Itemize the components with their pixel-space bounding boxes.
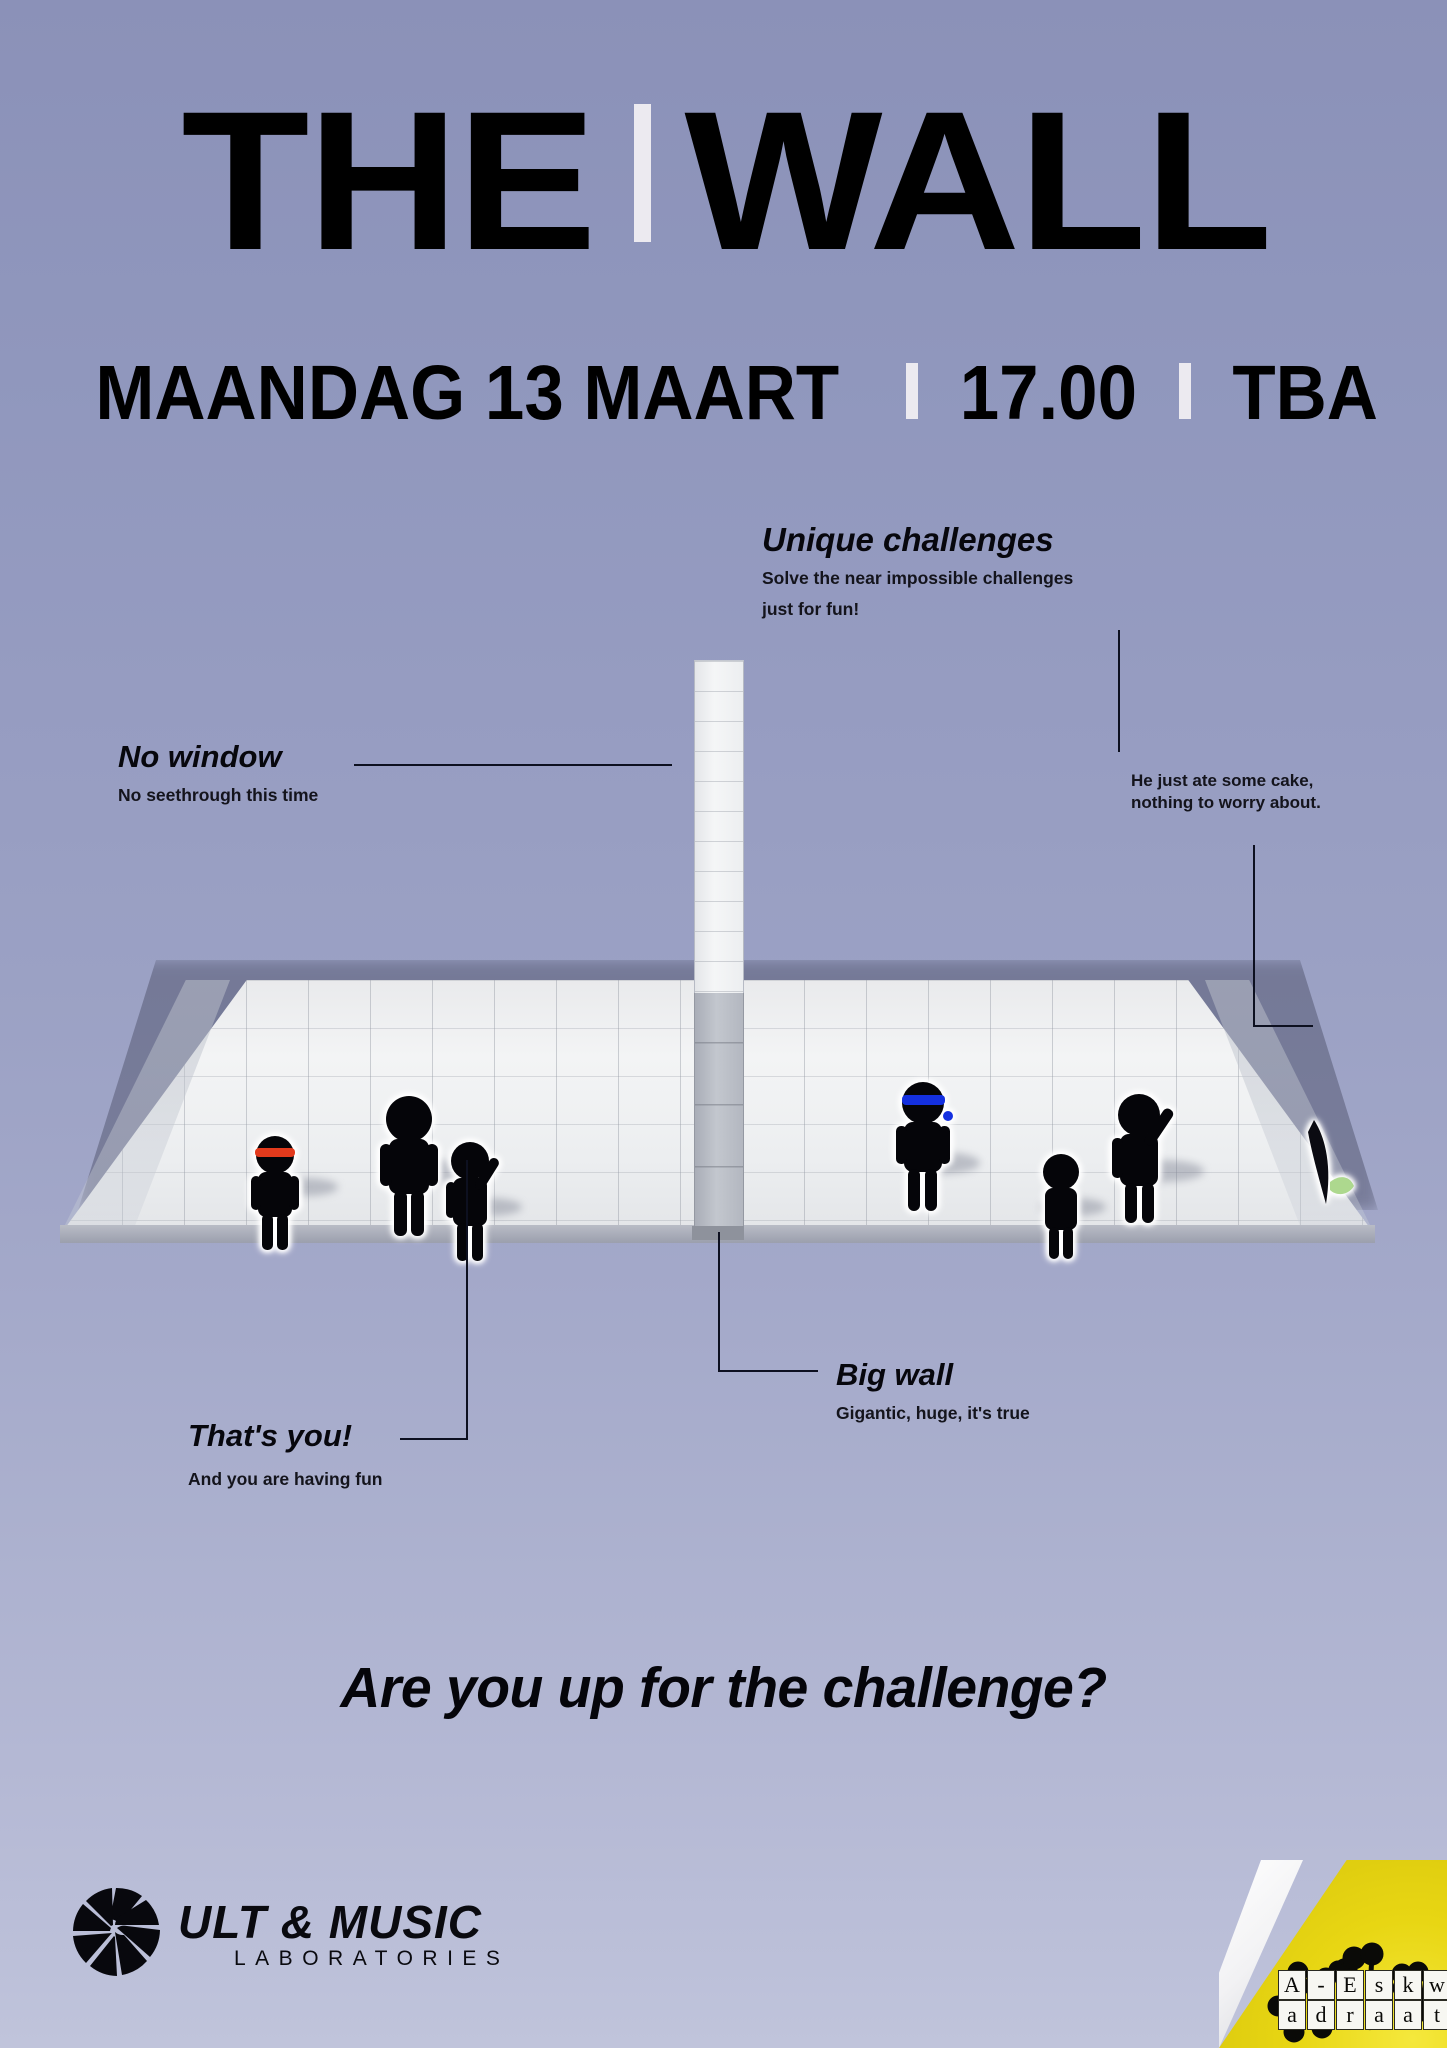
callout-thats-you: That's you! And you are having fun bbox=[188, 1418, 382, 1490]
event-details: MAANDAG 13 MAART 17.00 TBA bbox=[0, 355, 1447, 432]
title-word-wall: WALL bbox=[684, 82, 1270, 280]
subtitle-separator-1 bbox=[906, 363, 918, 419]
callout-title: No window bbox=[118, 739, 318, 775]
callout-no-window: No window No seethrough this time bbox=[118, 739, 318, 806]
figure-3 bbox=[444, 1140, 506, 1266]
title-word-the: THE bbox=[181, 82, 594, 280]
badge-cell: w bbox=[1423, 1970, 1447, 2000]
badge-cell: a bbox=[1278, 2000, 1306, 2030]
figure-1 bbox=[247, 1134, 303, 1254]
callout-big-wall: Big wall Gigantic, huge, it's true bbox=[836, 1357, 1030, 1424]
figure-6 bbox=[1110, 1092, 1180, 1226]
page-title: THE WALL bbox=[0, 82, 1447, 280]
badge-cell: d bbox=[1307, 2000, 1335, 2030]
leader-line-big-wall-end bbox=[718, 1370, 818, 1372]
event-date: MAANDAG 13 MAART bbox=[95, 355, 839, 432]
badge-cell: t bbox=[1423, 2000, 1447, 2030]
subtitle-separator-2 bbox=[1179, 363, 1191, 419]
leader-line-cake-end bbox=[1253, 1025, 1313, 1027]
leader-line-cake bbox=[1253, 845, 1255, 1025]
wall-upper-tiles bbox=[694, 660, 744, 993]
event-time: 17.00 bbox=[960, 355, 1137, 432]
leader-line-unique-challenges bbox=[1118, 630, 1120, 752]
poster-canvas: THE WALL MAANDAG 13 MAART 17.00 TBA bbox=[0, 0, 1447, 2048]
badge-cell: a bbox=[1365, 2000, 1393, 2030]
event-location: TBA bbox=[1232, 355, 1378, 432]
leader-line-thats-you bbox=[466, 1160, 468, 1438]
badge-line-1: A - E s k w bbox=[1278, 1970, 1447, 2000]
callout-body-line: He just ate some cake, bbox=[1131, 770, 1321, 792]
callout-body-line: And you are having fun bbox=[188, 1468, 382, 1490]
corner-page-curl: A - E s k w a d r a a t bbox=[1219, 1860, 1447, 2048]
logo-wordmark: ULT & MUSIC LABORATORIES bbox=[178, 1899, 509, 1971]
callout-body-line: nothing to worry about. bbox=[1131, 792, 1321, 814]
badge-cell: a bbox=[1394, 2000, 1422, 2030]
callout-title: That's you! bbox=[188, 1418, 382, 1454]
badge-cell: r bbox=[1336, 2000, 1364, 2030]
cult-and-music-logo: ULT & MUSIC LABORATORIES bbox=[62, 1878, 509, 1991]
logo-name: ULT & MUSIC bbox=[178, 1899, 509, 1945]
figure-5 bbox=[1035, 1152, 1087, 1262]
callout-cake: He just ate some cake, nothing to worry … bbox=[1131, 770, 1321, 814]
badge-cell: s bbox=[1365, 1970, 1393, 2000]
title-separator bbox=[634, 104, 651, 242]
callout-body-line: Gigantic, huge, it's true bbox=[836, 1402, 1030, 1424]
leader-line-no-window bbox=[354, 764, 672, 766]
callout-title: Big wall bbox=[836, 1357, 1030, 1393]
figure-4 bbox=[892, 1080, 956, 1214]
eskwadraat-logo: A - E s k w a d r a a t bbox=[1256, 1914, 1441, 2046]
leader-line-big-wall bbox=[718, 1232, 720, 1370]
badge-cell: E bbox=[1336, 1970, 1364, 2000]
callout-body-line: Solve the near impossible challenges bbox=[762, 567, 1073, 589]
logo-subtitle: LABORATORIES bbox=[178, 1947, 509, 1971]
callout-body-line: just for fun! bbox=[762, 598, 1073, 620]
aperture-icon bbox=[62, 1878, 170, 1991]
callout-unique-challenges: Unique challenges Solve the near impossi… bbox=[762, 522, 1073, 620]
badge-cell: A bbox=[1278, 1970, 1306, 2000]
leader-line-unique-challenges-end bbox=[1118, 750, 1119, 752]
leader-line-thats-you-end bbox=[400, 1438, 468, 1440]
figure-2 bbox=[376, 1094, 442, 1240]
badge-line-2: a d r a a t bbox=[1278, 2000, 1447, 2030]
callout-title: Unique challenges bbox=[762, 522, 1073, 558]
cake-slice-icon bbox=[1300, 1112, 1370, 1222]
badge-cell: k bbox=[1394, 1970, 1422, 2000]
callout-body-line: No seethrough this time bbox=[118, 784, 318, 806]
badge-cell: - bbox=[1307, 1970, 1335, 2000]
tagline: Are you up for the challenge? bbox=[22, 1655, 1426, 1721]
